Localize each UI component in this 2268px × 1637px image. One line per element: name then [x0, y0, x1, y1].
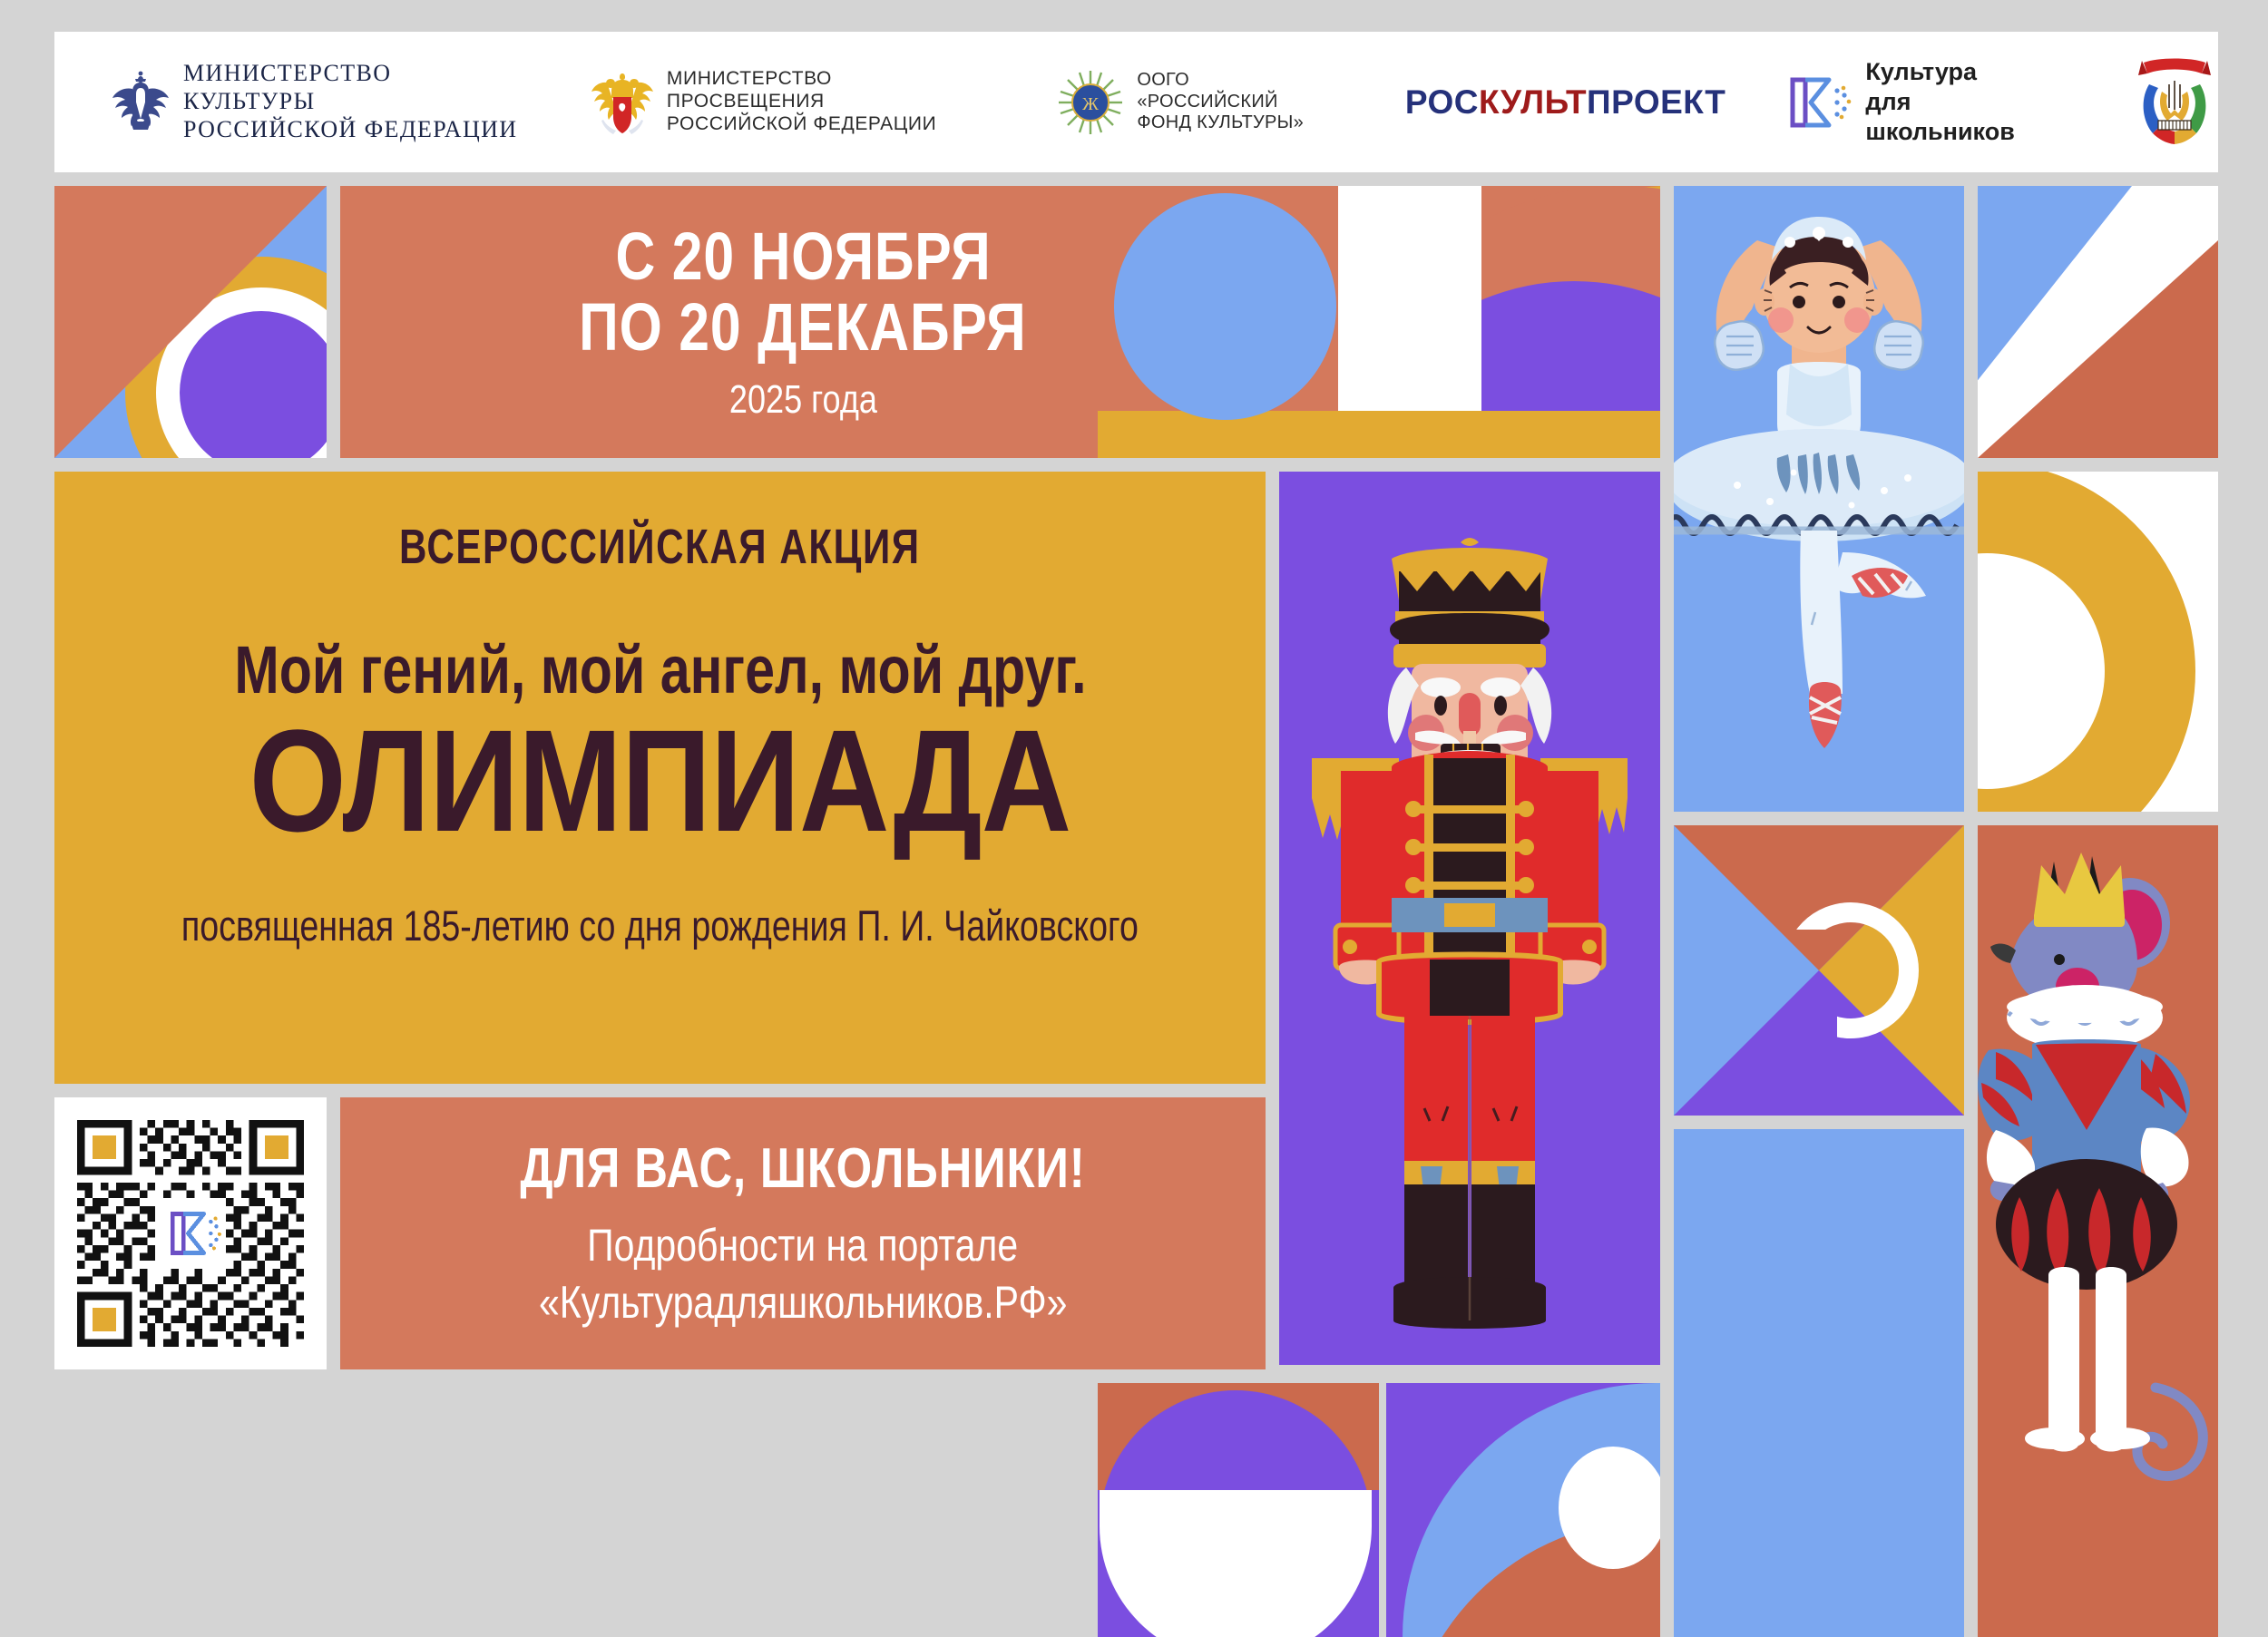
russian-coat-of-arms-emblem-icon	[591, 70, 654, 135]
nutcracker-illustration-icon	[1279, 472, 1660, 1365]
logo-ministry-culture-text: МИНИСТЕРСТВО КУЛЬТУРЫ РОССИЙСКОЙ ФЕДЕРАЦ…	[183, 60, 529, 143]
logo-line-2: РОССИЙСКОЙ ФЕДЕРАЦИИ	[183, 116, 529, 144]
qr-code[interactable]	[77, 1120, 304, 1347]
logo-line-2: для школьников	[1865, 87, 2066, 147]
logo-line-1: ООГО «РОССИЙСКИЙ	[1137, 70, 1334, 112]
logo-russian-culture-fund: Ж ООГО «РОССИЙСКИЙ ФОНД КУЛЬТУРЫ»	[1057, 32, 1334, 172]
poster-canvas: С 20 НОЯБРЯ ПО 20 ДЕКАБРЯ 2025 года	[54, 186, 2218, 1483]
music-school-lyre-emblem-icon	[2131, 57, 2218, 148]
mouse-king-illustration-tile	[1978, 825, 2218, 1637]
logo-line-1: Культура	[1865, 57, 2066, 87]
logo-line-2: РОССИЙСКОЙ ФЕДЕРАЦИИ	[667, 113, 993, 136]
decor-orange-triangle	[1978, 240, 2218, 458]
svg-text:Ж: Ж	[1082, 94, 1099, 114]
cta-sub-line-1: Подробности на портале	[588, 1217, 1019, 1274]
decor-right-yellow-donut-tile	[1978, 472, 2218, 812]
logo-music-school-tchaikovsky	[2131, 32, 2218, 172]
cta-sub-line-2[interactable]: «Культурадляшкольников.РФ»	[539, 1274, 1068, 1331]
mouse-king-illustration-icon	[1978, 825, 2218, 1637]
decor-white-circle	[1559, 1447, 1660, 1569]
decor-blue-ellipse	[1114, 193, 1336, 420]
decor-white-half-circle	[1100, 1490, 1372, 1637]
roskultproekt-part-2: КУЛЬТ	[1479, 83, 1587, 121]
logo-line-1: МИНИСТЕРСТВО ПРОСВЕЩЕНИЯ	[667, 68, 993, 113]
decor-white-square	[1338, 186, 1481, 411]
logo-roskultproekt: РОСКУЛЬТПРОЕКТ	[1405, 32, 1726, 172]
decor-ballerina-lower-panel	[1674, 1129, 1964, 1637]
logo-roskultproekt-wordmark: РОСКУЛЬТПРОЕКТ	[1405, 83, 1726, 122]
logo-line-1: МИНИСТЕРСТВО КУЛЬТУРЫ	[183, 60, 529, 115]
roskultproekt-part-1: РОС	[1405, 83, 1479, 121]
title-main-word: ОЛИМПИАДА	[249, 712, 1071, 850]
decor-yellow-base-band	[1098, 411, 1660, 458]
date-line-1: С 20 НОЯБРЯ	[615, 221, 991, 292]
title-dedication: посвященная 185-летию со дня рождения П.…	[181, 901, 1139, 950]
logo-ministry-culture: МИНИСТЕРСТВО КУЛЬТУРЫ РОССИЙСКОЙ ФЕДЕРАЦ…	[111, 32, 529, 172]
decor-bottom-arc-tile	[1386, 1383, 1660, 1637]
decor-four-triangles-tile	[1674, 825, 1964, 1116]
double-headed-eagle-lyre-emblem-icon	[111, 71, 171, 134]
k-bracket-logo-icon	[1787, 73, 1853, 132]
decor-purple-triangle	[1674, 970, 1964, 1116]
star-medal-emblem-icon: Ж	[1057, 69, 1124, 136]
logo-culture-for-schoolchildren: Культура для школьников	[1787, 32, 2066, 172]
cta-block: ДЛЯ ВАС, ШКОЛЬНИКИ! Подробности на порта…	[340, 1097, 1266, 1369]
qr-code-tile[interactable]	[54, 1097, 327, 1369]
cta-heading: ДЛЯ ВАС, ШКОЛЬНИКИ!	[520, 1136, 1085, 1201]
main-title-block: ВСЕРОССИЙСКАЯ АКЦИЯ Мой гений, мой ангел…	[54, 472, 1266, 1084]
date-line-2: ПО 20 ДЕКАБРЯ	[579, 292, 1026, 363]
logo-ministry-education-text: МИНИСТЕРСТВО ПРОСВЕЩЕНИЯ РОССИЙСКОЙ ФЕДЕ…	[667, 68, 993, 135]
title-kicker: ВСЕРОССИЙСКАЯ АКЦИЯ	[399, 519, 921, 575]
title-subtitle-line: Мой гений, мой ангел, мой друг.	[234, 631, 1086, 708]
logo-line-2: ФОНД КУЛЬТУРЫ»	[1137, 112, 1334, 134]
ballerina-illustration-icon	[1674, 186, 1964, 812]
nutcracker-illustration-tile	[1279, 472, 1660, 1365]
logo-russian-culture-fund-text: ООГО «РОССИЙСКИЙ ФОНД КУЛЬТУРЫ»	[1137, 70, 1334, 134]
ballerina-illustration-tile	[1674, 186, 1964, 812]
poster: МИНИСТЕРСТВО КУЛЬТУРЫ РОССИЙСКОЙ ФЕДЕРАЦ…	[54, 32, 2218, 1483]
logo-ministry-education: МИНИСТЕРСТВО ПРОСВЕЩЕНИЯ РОССИЙСКОЙ ФЕДЕ…	[591, 32, 993, 172]
decor-top-geometric-tile	[1098, 186, 1660, 458]
date-year: 2025 года	[728, 377, 876, 423]
decor-bottom-circle-tile	[1098, 1383, 1379, 1637]
decor-corner-arc-tile	[54, 186, 327, 458]
decor-orange-triangle	[54, 186, 327, 458]
sponsor-logo-bar: МИНИСТЕРСТВО КУЛЬТУРЫ РОССИЙСКОЙ ФЕДЕРАЦ…	[54, 32, 2218, 172]
roskultproekt-part-3: ПРОЕКТ	[1587, 83, 1725, 121]
logo-culture-for-schoolchildren-text: Культура для школьников	[1865, 57, 2066, 147]
decor-right-top-triangles-tile	[1978, 186, 2218, 458]
